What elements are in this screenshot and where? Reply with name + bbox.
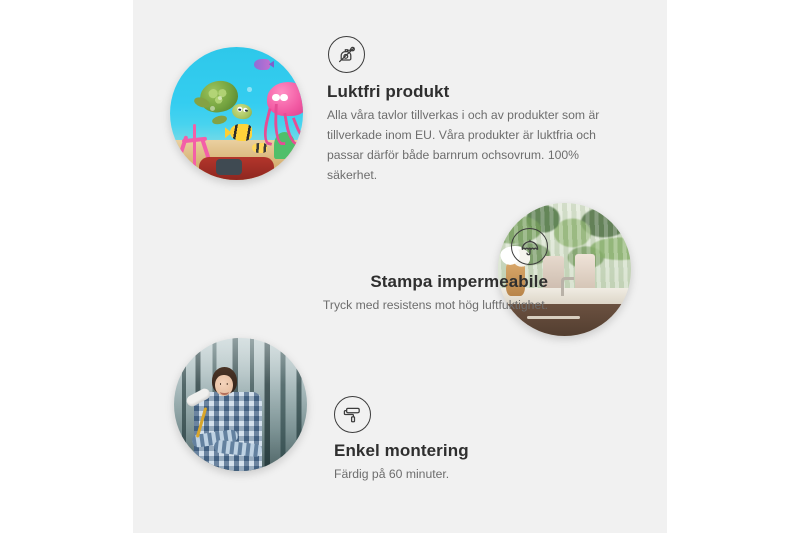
feature-body: Färdig på 60 minuter. [334,465,614,485]
feature-easy-mounting: Enkel montering Färdig på 60 minuter. [334,396,614,485]
bubble [247,87,252,92]
fish-small-striped [252,143,267,154]
bubble [210,106,215,111]
icon-row [327,36,625,73]
mirror-panel-right [575,254,595,291]
no-perfume-icon [328,36,365,73]
feature-title: Enkel montering [334,441,614,461]
faucet [561,277,575,296]
image-ocean-kids-mural [170,47,303,180]
feature-title: Luktfri produkt [327,82,625,102]
sea-turtle [191,79,252,122]
feature-body: Tryck med resistens mot hög luftfuktighe… [215,296,548,316]
feature-body: Alla våra tavlor tillverkas i och av pro… [327,106,625,185]
infographic-page: Luktfri produkt Alla våra tavlor tillver… [0,0,800,533]
icon-row [215,228,548,265]
octopus [252,82,303,143]
umbrella-icon [511,228,548,265]
icon-row [334,396,614,433]
fish-purple [254,59,270,70]
feature-waterproof-print: Stampa impermeabile Tryck med resistens … [215,228,548,316]
feature-odour-free: Luktfri produkt Alla våra tavlor tillver… [327,36,625,185]
image-woman-painter-forest [174,338,307,471]
feature-title: Stampa impermeabile [215,272,548,292]
sunken-wreck [199,157,273,180]
paint-roller-icon [334,396,371,433]
content-panel: Luktfri produkt Alla våra tavlor tillver… [133,0,667,533]
woman-painter [187,367,269,471]
fish-yellow-striped [230,124,253,141]
